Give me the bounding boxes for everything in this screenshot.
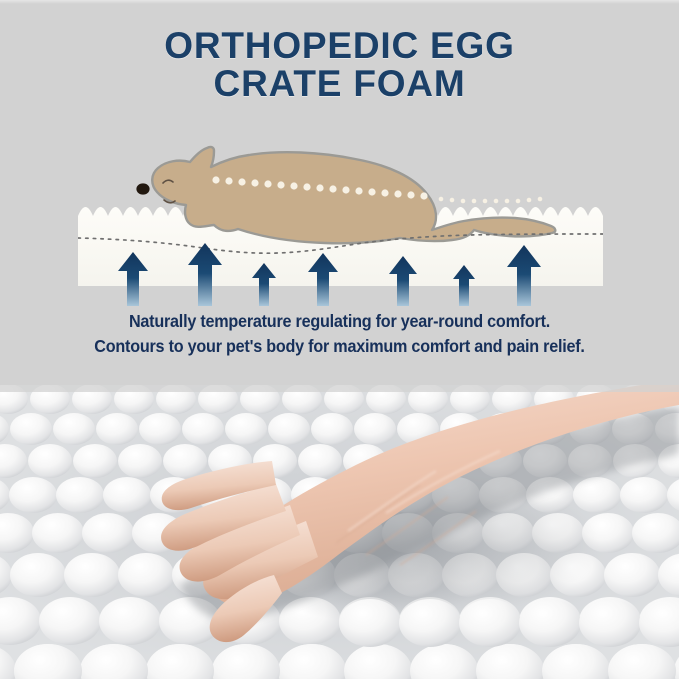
page-title: ORTHOPEDIC EGG CRATE FOAM xyxy=(0,27,679,102)
top-infographic-panel: ORTHOPEDIC EGG CRATE FOAM xyxy=(0,0,679,385)
title-line-1: ORTHOPEDIC EGG xyxy=(0,27,679,65)
subtitle-line-1: Naturally temperature regulating for yea… xyxy=(24,309,655,334)
dog-nose xyxy=(136,183,149,194)
title-line-2: CRATE FOAM xyxy=(0,65,679,103)
foam-photo-panel xyxy=(0,385,679,679)
hand-pressing-egg-crate-foam-photo xyxy=(0,385,679,679)
product-infographic-page: ORTHOPEDIC EGG CRATE FOAM xyxy=(0,0,679,679)
subtitle-block: Naturally temperature regulating for yea… xyxy=(0,309,679,359)
dog-on-foam-illustration xyxy=(0,126,679,306)
subtitle-line-2: Contours to your pet's body for maximum … xyxy=(24,334,655,359)
